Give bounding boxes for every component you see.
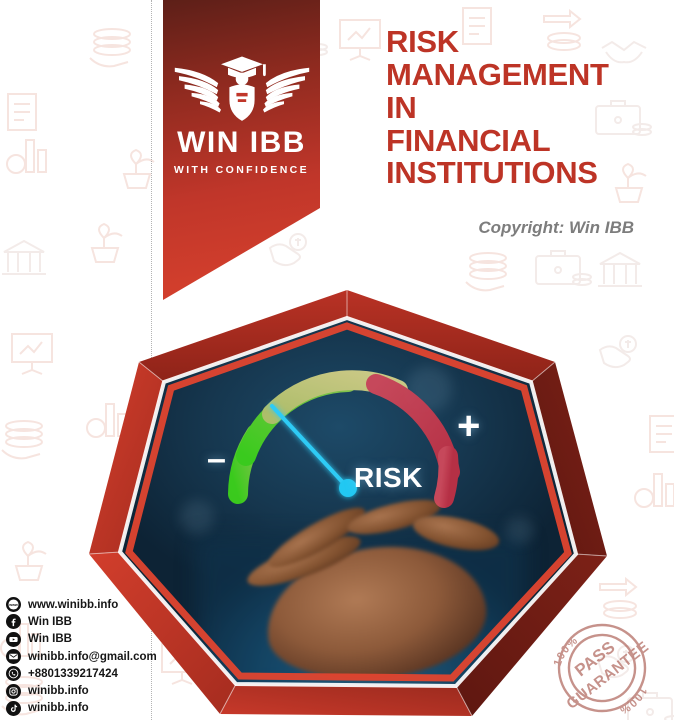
contact-row-website[interactable]: www www.winibb.info bbox=[6, 596, 206, 613]
svg-text:www: www bbox=[8, 603, 18, 607]
pass-guarantee-stamp: 100% 100% PASS GUARANTEE bbox=[541, 612, 663, 720]
logo-wordmark: WIN IBB bbox=[163, 128, 320, 158]
contact-label: www.winibb.info bbox=[28, 599, 118, 611]
contact-label: winibb.info bbox=[28, 685, 89, 697]
website-icon: www bbox=[6, 597, 21, 612]
contact-label: Win IBB bbox=[28, 616, 72, 628]
title-line-2: MANAGEMENT bbox=[386, 59, 666, 92]
contact-row-facebook[interactable]: Win IBB bbox=[6, 613, 206, 630]
contact-row-youtube[interactable]: Win IBB bbox=[6, 631, 206, 648]
contact-label: winibb.info bbox=[28, 702, 89, 714]
logo-tagline: WITH CONFIDENCE bbox=[163, 164, 320, 176]
contact-label: winibb.info@gmail.com bbox=[28, 651, 157, 663]
stamp-percent-bottom: 100% bbox=[617, 685, 649, 716]
contact-label: Win IBB bbox=[28, 633, 72, 645]
contact-list: www www.winibb.info Win IBB Win IBB bbox=[6, 596, 206, 717]
poster-canvas: WIN IBB WITH CONFIDENCE RISK MANAGEMENT … bbox=[0, 0, 674, 720]
copyright-text: Copyright: Win IBB bbox=[386, 218, 634, 238]
contact-row-whatsapp[interactable]: +8801339217424 bbox=[6, 665, 206, 682]
contact-label: +8801339217424 bbox=[28, 668, 118, 680]
email-icon bbox=[6, 649, 21, 664]
contact-row-instagram[interactable]: winibb.info bbox=[6, 682, 206, 699]
whatsapp-icon bbox=[6, 666, 21, 681]
title-line-4: FINANCIAL bbox=[386, 125, 666, 158]
contact-row-tiktok[interactable]: winibb.info bbox=[6, 700, 206, 717]
contact-row-email[interactable]: winibb.info@gmail.com bbox=[6, 648, 206, 665]
title-line-3: IN bbox=[386, 92, 666, 125]
instagram-icon bbox=[6, 684, 21, 699]
tiktok-icon bbox=[6, 701, 21, 716]
youtube-icon bbox=[6, 632, 21, 647]
page-title: RISK MANAGEMENT IN FINANCIAL INSTITUTION… bbox=[386, 26, 666, 190]
svg-text:100%: 100% bbox=[617, 685, 649, 716]
winged-eagle-graduation-cap-icon bbox=[172, 52, 312, 124]
title-line-1: RISK bbox=[386, 26, 666, 59]
facebook-icon bbox=[6, 614, 21, 629]
title-line-5: INSTITUTIONS bbox=[386, 157, 666, 190]
brand-logo: WIN IBB WITH CONFIDENCE bbox=[163, 52, 320, 176]
